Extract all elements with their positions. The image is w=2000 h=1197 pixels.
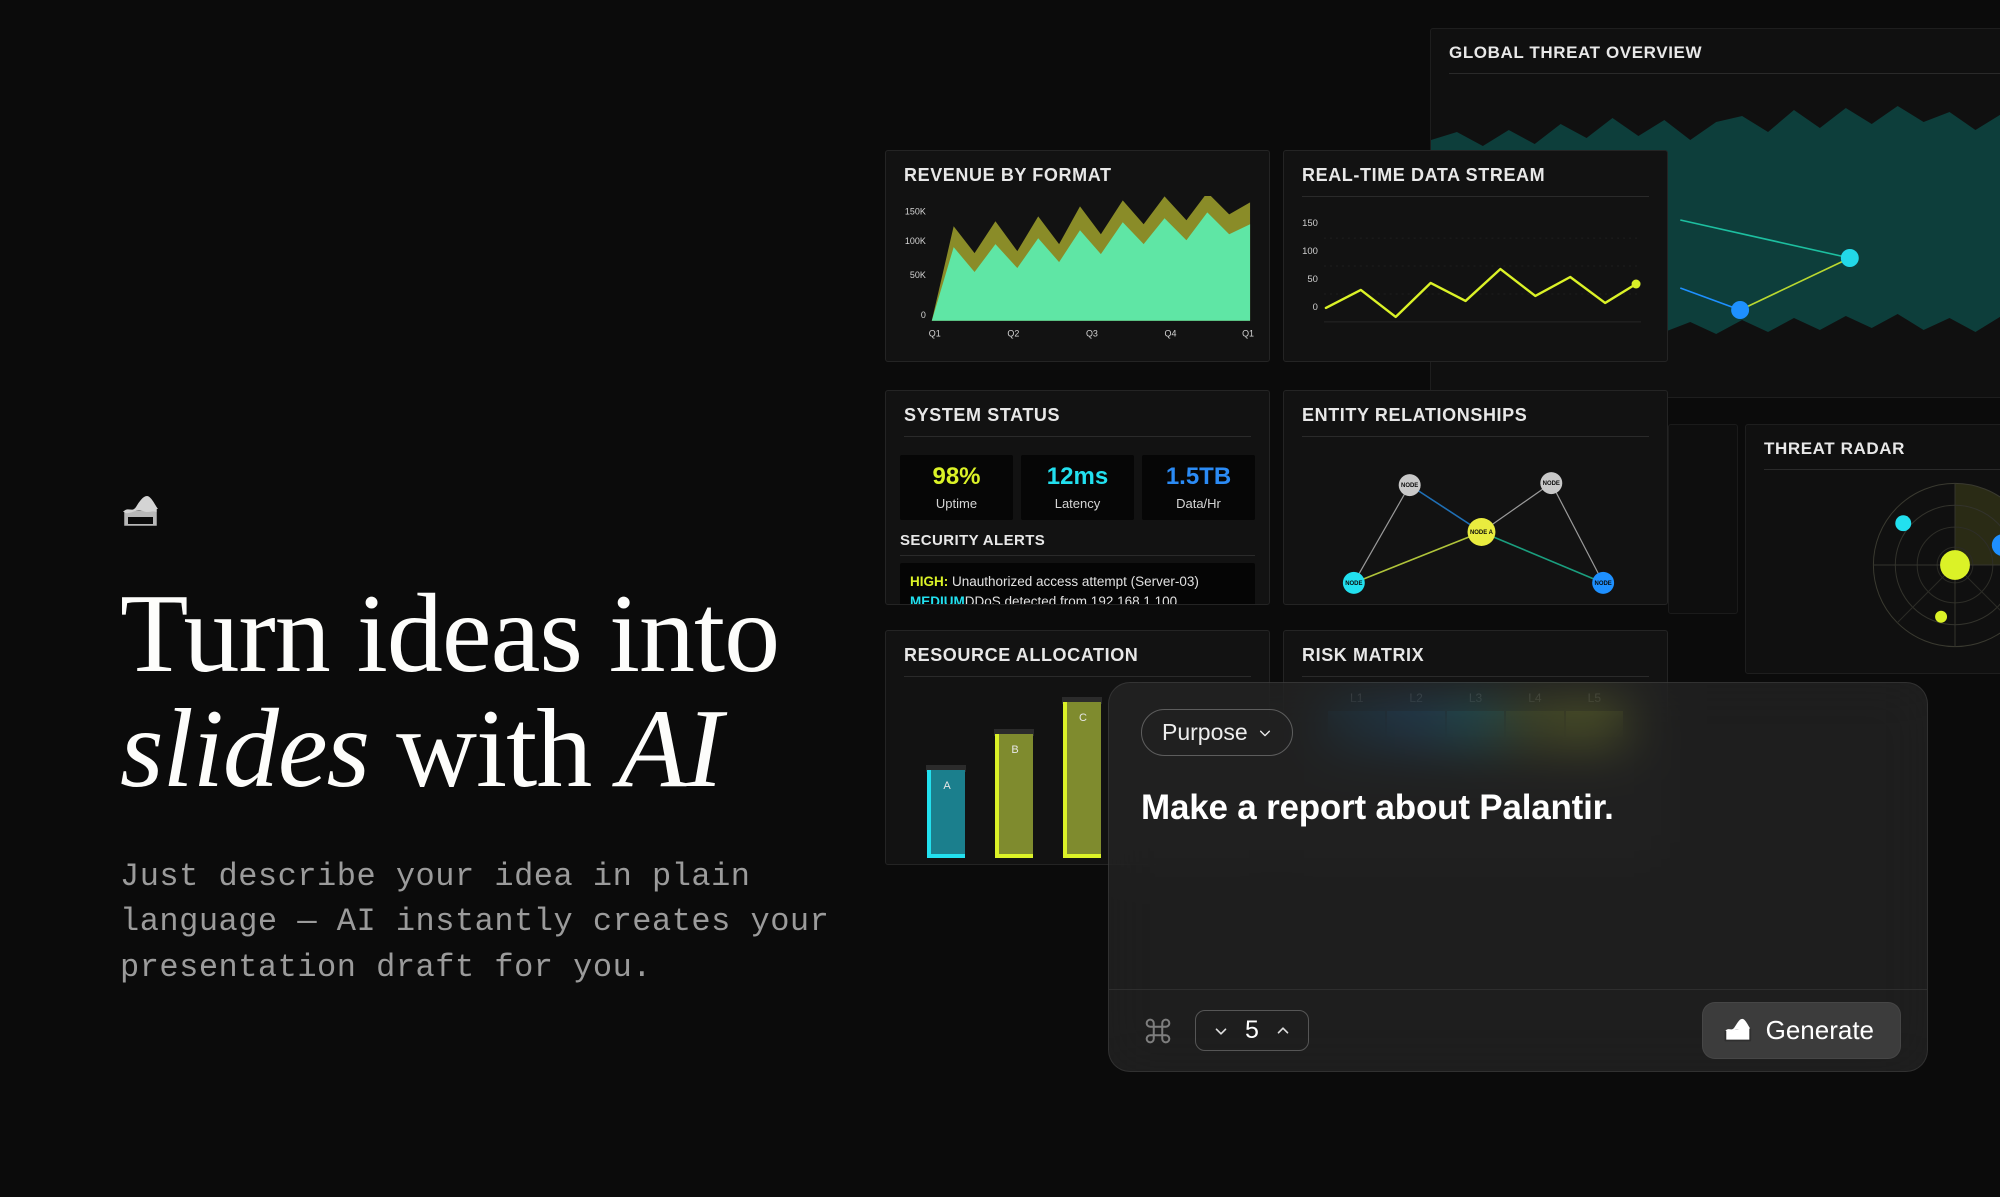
edge: [1354, 532, 1482, 583]
card-threat-radar: THREAT RADAR: [1745, 424, 2000, 674]
stream-line: [1326, 269, 1636, 317]
card-background-placeholder: [1668, 424, 1738, 614]
card-title: THREAT RADAR: [1746, 425, 2000, 469]
y-tick-label: 0: [1313, 302, 1318, 313]
chevron-up-icon[interactable]: [1274, 1022, 1292, 1040]
metric-latency: 12ms Latency: [1021, 455, 1134, 520]
headline-emph-slides: slides: [120, 687, 369, 811]
threat-node: [1731, 301, 1749, 319]
card-title: REVENUE BY FORMAT: [886, 151, 1269, 196]
radar-blip: [1895, 515, 1911, 531]
chevron-down-icon: [1258, 726, 1272, 740]
card-title: RISK MATRIX: [1284, 631, 1667, 676]
node-label: NODE: [1543, 481, 1560, 487]
y-tick-label: 50K: [910, 270, 926, 280]
metric-label: Data/Hr: [1146, 496, 1251, 511]
headline-mid: with: [369, 687, 618, 811]
generate-button[interactable]: Generate: [1702, 1002, 1901, 1059]
bar-a-edge: [927, 854, 965, 858]
y-tick-label: 100: [1302, 246, 1318, 257]
bar-label: B: [1011, 744, 1018, 756]
edge: [1481, 532, 1603, 583]
bar-b-edge: [995, 734, 999, 858]
revenue-area-chart: 150K 100K 50K 0 Q1 Q2 Q3 Q4 Q1: [892, 196, 1263, 356]
divider: [900, 555, 1255, 556]
card-body: 98% Uptime 12ms Latency 1.5TB Data/Hr SE…: [886, 437, 1269, 605]
security-alerts-title: SECURITY ALERTS: [900, 532, 1255, 549]
y-tick-label: 0: [921, 310, 926, 320]
slide-count-stepper[interactable]: 5: [1195, 1010, 1309, 1051]
card-body: NODE NODE NODE A NODE NODE: [1284, 437, 1667, 605]
edge: [1551, 483, 1603, 583]
page-root: GLOBAL THREAT OVERVIEW THREAT RADAR: [0, 0, 2000, 1197]
x-tick-label: Q4: [1165, 329, 1177, 339]
bar-c-edge: [1063, 854, 1101, 858]
card-title: ENTITY RELATIONSHIPS: [1284, 391, 1667, 436]
metric-data-per-hour: 1.5TB Data/Hr: [1142, 455, 1255, 520]
node-group: NODE NODE NODE A NODE NODE: [1343, 472, 1614, 594]
chevron-down-icon[interactable]: [1212, 1022, 1230, 1040]
cake-slice-icon: [120, 495, 166, 531]
slide-count-value: 5: [1244, 1018, 1260, 1043]
card-system-status: SYSTEM STATUS 98% Uptime 12ms Latency 1.…: [885, 390, 1270, 605]
node-label: NODE: [1401, 483, 1418, 489]
card-revenue-by-format: REVENUE BY FORMAT 150K 100K 50K 0 Q1 Q2 …: [885, 150, 1270, 362]
card-title: RESOURCE ALLOCATION: [886, 631, 1269, 676]
node-label: NODE: [1345, 581, 1362, 587]
edge: [1354, 485, 1410, 583]
generate-label: Generate: [1766, 1015, 1874, 1046]
headline-line-1: Turn ideas into: [120, 577, 880, 692]
y-tick-label: 150: [1302, 218, 1318, 229]
status-metric-row: 98% Uptime 12ms Latency 1.5TB Data/Hr: [900, 455, 1255, 520]
radar-blip: [1940, 550, 1970, 580]
hero-subtext: Just describe your idea in plain languag…: [120, 854, 880, 990]
cake-slice-icon: [1723, 1018, 1755, 1043]
alert-text: DDoS detected from 192.168.1.100: [965, 594, 1177, 605]
metric-label: Latency: [1025, 496, 1130, 511]
purpose-dropdown[interactable]: Purpose: [1141, 709, 1293, 756]
prompt-composer-top: Purpose Make a report about Palantir.: [1109, 683, 1927, 828]
hero-section: Turn ideas into slides with AI Just desc…: [120, 495, 880, 990]
metric-value: 12ms: [1025, 465, 1130, 489]
command-key-icon[interactable]: [1141, 1014, 1175, 1048]
alert-row: MEDIUMDDoS detected from 192.168.1.100: [910, 592, 1245, 605]
y-tick-label: 150K: [905, 206, 926, 216]
bar-c-edge: [1063, 702, 1067, 858]
card-title: REAL-TIME DATA STREAM: [1284, 151, 1667, 196]
purpose-label: Purpose: [1162, 719, 1248, 746]
headline-line-2: slides with AI: [120, 692, 880, 807]
bar-a-edge: [927, 770, 931, 858]
prompt-composer-card[interactable]: Purpose Make a report about Palantir. 5: [1108, 682, 1928, 1072]
card-body: 150K 100K 50K 0 Q1 Q2 Q3 Q4 Q1: [886, 196, 1269, 356]
bar-b-edge: [995, 854, 1033, 858]
threat-node: [1841, 249, 1859, 267]
y-tick-label: 50: [1307, 274, 1318, 285]
alert-row: HIGH: Unauthorized access attempt (Serve…: [910, 572, 1245, 592]
node-label: NODE: [1595, 581, 1612, 587]
y-tick-label: 100K: [905, 236, 926, 246]
card-body: [1746, 470, 2000, 660]
bar-label: C: [1079, 712, 1087, 724]
metric-value: 1.5TB: [1146, 465, 1251, 489]
radar-group: [1873, 483, 2000, 646]
prompt-input-text[interactable]: Make a report about Palantir.: [1141, 788, 1895, 828]
alert-severity: HIGH:: [910, 574, 948, 589]
x-tick-label: Q1: [1242, 329, 1254, 339]
card-real-time-data-stream: REAL-TIME DATA STREAM 150 100 50 0: [1283, 150, 1668, 362]
metric-label: Uptime: [904, 496, 1009, 511]
metric-uptime: 98% Uptime: [900, 455, 1013, 520]
x-tick-label: Q3: [1086, 329, 1098, 339]
alert-text: Unauthorized access attempt (Server-03): [948, 574, 1199, 589]
entity-network-graph: NODE NODE NODE A NODE NODE: [1292, 441, 1659, 605]
x-tick-label: Q2: [1007, 329, 1019, 339]
card-title: SYSTEM STATUS: [886, 391, 1269, 436]
page-title: Turn ideas into slides with AI: [120, 577, 880, 808]
security-alerts-list: HIGH: Unauthorized access attempt (Serve…: [900, 563, 1255, 605]
bar-label: A: [943, 780, 951, 792]
threat-radar-chart: [1746, 470, 2000, 660]
stream-line-chart: 150 100 50 0: [1292, 199, 1659, 359]
stream-last-point: [1632, 279, 1641, 288]
card-body: 150 100 50 0: [1284, 197, 1667, 359]
bar-c: [1063, 702, 1101, 858]
alert-severity: MEDIUM: [910, 594, 965, 605]
card-title: GLOBAL THREAT OVERVIEW: [1431, 29, 2000, 73]
node-label: NODE A: [1470, 530, 1494, 536]
metric-value: 98%: [904, 465, 1009, 489]
prompt-composer-footer: 5 Generate: [1109, 989, 1927, 1071]
x-tick-label: Q1: [929, 329, 941, 339]
radar-blip: [1935, 611, 1947, 623]
headline-emph-ai: AI: [618, 687, 722, 811]
card-entity-relationships: ENTITY RELATIONSHIPS NODE NODE: [1283, 390, 1668, 605]
